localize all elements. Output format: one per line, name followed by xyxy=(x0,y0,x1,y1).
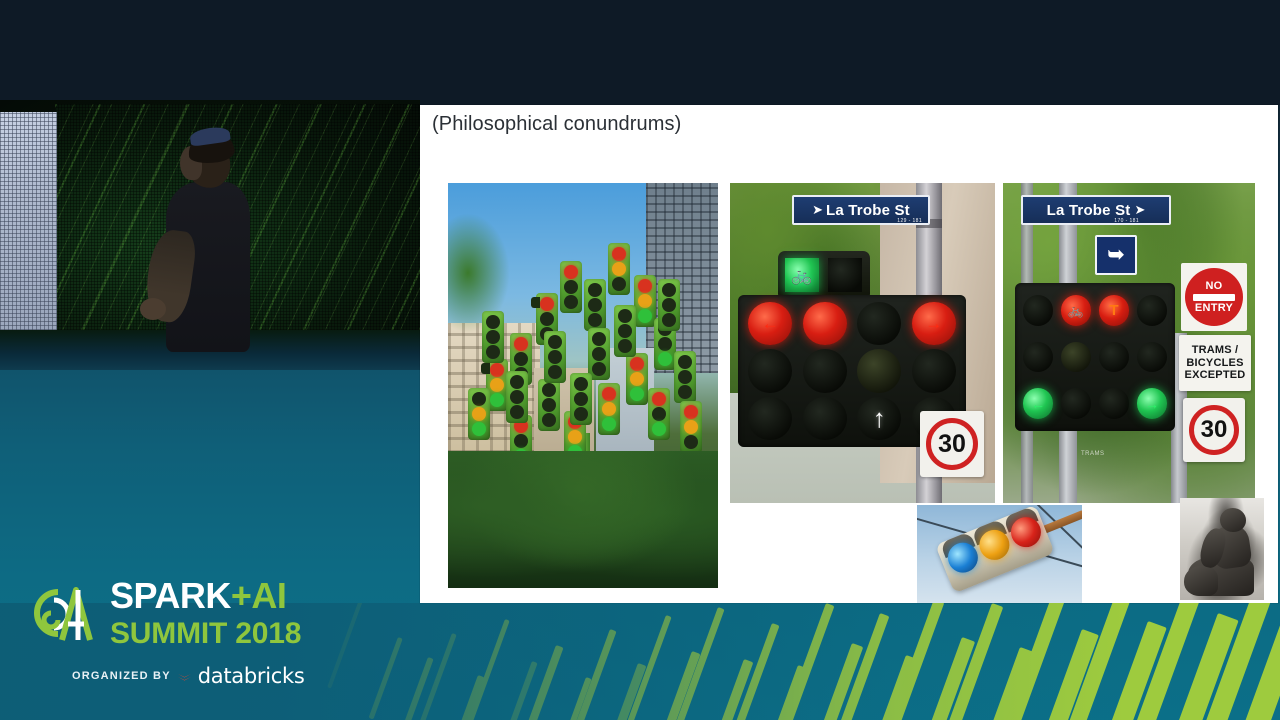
databricks-flame-icon xyxy=(177,669,192,684)
text-sign-line-1: TRAMS / xyxy=(1192,344,1239,357)
speed-limit-sign-right: 30 xyxy=(1183,398,1245,462)
tram-pavement-label: TRAMS xyxy=(1081,451,1105,457)
street-sign-numbers: 170 - 181 xyxy=(1114,218,1139,224)
summit-year-line: SUMMIT 2018 xyxy=(110,618,301,650)
lamp-red-bicycle: 🚲 xyxy=(1061,295,1091,325)
street-sign-la-trobe: La Trobe St ➤ 170 - 181 xyxy=(1021,195,1171,225)
street-sign-name: La Trobe St xyxy=(1047,202,1131,219)
organized-by-line: ORGANIZED BY databricks xyxy=(72,664,305,688)
photo-hanging-traffic-light xyxy=(917,505,1082,603)
no-entry-bottom-text: ENTRY xyxy=(1195,303,1233,314)
speed-limit-value: 30 xyxy=(1189,405,1239,455)
databricks-wordmark: databricks xyxy=(198,664,305,688)
presentation-slide: (Philosophical conundrums) xyxy=(420,105,1278,603)
lamp-red-circle xyxy=(803,302,847,346)
speed-limit-value: 30 xyxy=(926,418,978,470)
bicycle-signal-head: 🚲 xyxy=(778,251,870,299)
lamp-dark xyxy=(748,349,792,393)
text-sign-line-2: BICYCLES xyxy=(1186,357,1243,370)
speed-limit-sign-left: 30 xyxy=(920,411,984,477)
lamp-dark xyxy=(1023,342,1053,372)
photo-the-thinker xyxy=(1180,498,1264,600)
lamp-red-tram-t: T xyxy=(1099,295,1129,325)
event-logo: SPARK+AI SUMMIT 2018 ORGANIZED BY databr… xyxy=(28,578,328,690)
top-letterbox-bar xyxy=(0,0,1280,105)
spark-ai-logo-mark-icon xyxy=(28,582,102,648)
slide-title: (Philosophical conundrums) xyxy=(432,113,681,136)
traffic-light-housing xyxy=(935,505,1055,593)
presenter-hand xyxy=(140,298,166,320)
logo-text: SPARK+AI SUMMIT 2018 xyxy=(110,578,301,650)
text-sign-line-3: EXCEPTED xyxy=(1185,369,1246,382)
bicycle-green-icon: 🚲 xyxy=(791,267,812,284)
street-sign-name: La Trobe St xyxy=(826,202,910,219)
thinker-head xyxy=(1220,508,1246,532)
lamp-dark xyxy=(1061,388,1091,418)
thinker-statue xyxy=(1180,498,1264,600)
organized-by-label: ORGANIZED BY xyxy=(72,670,171,682)
lamp-dark xyxy=(803,349,847,393)
street-sign-la-trobe: ➤ La Trobe St 129 - 181 xyxy=(792,195,930,225)
lamp-dark xyxy=(857,302,901,346)
lamp-red-left-arrow: ← xyxy=(748,302,792,346)
lamp-white-up-arrow: ↑ xyxy=(857,397,901,441)
signal-array-right: 🚲 T ← → xyxy=(1015,283,1175,431)
ai-word: +AI xyxy=(231,575,287,616)
lamp-dark xyxy=(1061,342,1091,372)
foliage-bottom xyxy=(448,451,718,588)
photo-traffic-light-tree xyxy=(448,183,718,588)
lamp-green-left-arrow: ← xyxy=(1023,388,1053,418)
trams-bicycles-excepted-sign: TRAMS / BICYCLES EXCEPTED xyxy=(1179,335,1251,391)
street-sign-numbers: 129 - 181 xyxy=(897,218,922,224)
photo-la-trobe-right: La Trobe St ➤ 170 - 181 ➥ 🚲 T ← → xyxy=(1003,183,1255,503)
right-turn-arrow-icon: ➥ xyxy=(1108,245,1125,265)
lamp-dark xyxy=(1023,295,1053,325)
lamp-dark xyxy=(912,349,956,393)
lamp-dark xyxy=(857,349,901,393)
lamp-dark xyxy=(748,397,792,441)
street-sign-arrow-icon: ➤ xyxy=(1134,202,1145,218)
no-entry-sign: NO ENTRY xyxy=(1181,263,1247,331)
no-entry-bar xyxy=(1193,294,1235,301)
thinker-knee xyxy=(1184,566,1218,596)
street-sign-arrow-icon: ➤ xyxy=(812,202,823,218)
lamp-red-right-arrow: → xyxy=(912,302,956,346)
right-turn-sign: ➥ xyxy=(1095,235,1137,275)
lamp-dark xyxy=(803,397,847,441)
led-panel-left xyxy=(0,112,57,334)
photo-la-trobe-left: ➤ La Trobe St 129 - 181 🚲 ← → xyxy=(730,183,995,503)
lamp-green-right-arrow: → xyxy=(1137,388,1167,418)
spark-word: SPARK xyxy=(110,575,231,616)
lamp-dark xyxy=(1137,342,1167,372)
lamp-dark xyxy=(1137,295,1167,325)
spark-ai-line: SPARK+AI xyxy=(110,578,301,614)
presenter xyxy=(130,120,270,350)
no-entry-top-text: NO xyxy=(1205,281,1222,292)
lamp-dark xyxy=(1099,342,1129,372)
lamp-dark xyxy=(1099,388,1129,418)
